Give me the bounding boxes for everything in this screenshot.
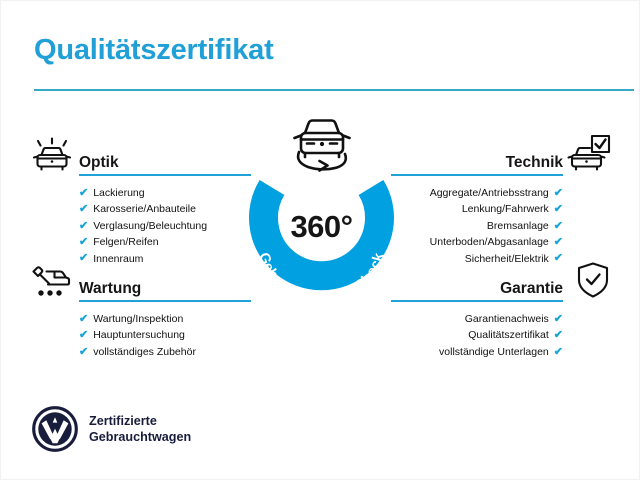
vw-certified-logo: Zertifizierte Gebrauchtwagen [32, 406, 191, 452]
list-item: ✔Verglasung/Beleuchtung [79, 218, 251, 234]
footer-logo-line2: Gebrauchtwagen [89, 429, 191, 445]
list-item-label: Lackierung [93, 185, 144, 201]
list-item-label: Innenraum [93, 251, 143, 267]
section-garantie: Garantie ✔Garantienachweis ✔Qualitätszer… [391, 272, 563, 360]
list-item-label: Unterboden/Abgasanlage [430, 234, 549, 250]
section-technik-header: Technik [391, 146, 563, 176]
section-technik-title: Technik [506, 154, 563, 172]
section-wartung: Wartung ✔Wartung/Inspektion ✔Hauptunters… [79, 272, 251, 360]
list-item: ✔vollständiges Zubehör [79, 344, 251, 360]
section-optik-title: Optik [79, 154, 119, 172]
check-icon: ✔ [79, 188, 88, 199]
section-optik-underline [79, 174, 251, 176]
check-icon: ✔ [554, 188, 563, 199]
list-item: ✔Aggregate/Antriebsstrang [391, 185, 563, 201]
section-garantie-list: ✔Garantienachweis ✔Qualitätszertifikat ✔… [391, 311, 563, 360]
section-wartung-underline [79, 300, 251, 302]
check-icon: ✔ [79, 237, 88, 248]
car-wrench-icon [27, 261, 73, 301]
section-optik-list: ✔Lackierung ✔Karosserie/Anbauteile ✔Verg… [79, 185, 251, 267]
list-item-label: Sicherheit/Elektrik [465, 251, 549, 267]
check-icon: ✔ [79, 221, 88, 232]
check-icon: ✔ [79, 330, 88, 341]
list-item-label: Verglasung/Beleuchtung [93, 218, 207, 234]
check-icon: ✔ [554, 314, 563, 325]
section-technik: Technik ✔Aggregate/Antriebsstrang ✔Lenku… [391, 146, 563, 267]
check-icon: ✔ [554, 221, 563, 232]
section-wartung-header: Wartung [79, 272, 251, 302]
section-technik-underline [391, 174, 563, 176]
list-item: ✔Qualitätszertifikat [391, 327, 563, 343]
page-title: Qualitätszertifikat [34, 34, 274, 67]
list-item: ✔Lackierung [79, 185, 251, 201]
list-item: ✔Sicherheit/Elektrik [391, 251, 563, 267]
list-item-label: vollständiges Zubehör [93, 344, 196, 360]
vw-logo-icon [32, 406, 78, 452]
check-icon: ✔ [554, 237, 563, 248]
section-garantie-underline [391, 300, 563, 302]
list-item: ✔Felgen/Reifen [79, 234, 251, 250]
check-icon: ✔ [79, 204, 88, 215]
section-technik-list: ✔Aggregate/Antriebsstrang ✔Lenkung/Fahrw… [391, 185, 563, 267]
check-icon: ✔ [554, 204, 563, 215]
list-item: ✔Garantienachweis [391, 311, 563, 327]
list-item: ✔Wartung/Inspektion [79, 311, 251, 327]
check-icon: ✔ [79, 347, 88, 358]
list-item-label: vollständige Unterlagen [439, 344, 549, 360]
list-item-label: Wartung/Inspektion [93, 311, 183, 327]
list-item-label: Bremsanlage [487, 218, 549, 234]
list-item-label: Lenkung/Fahrwerk [462, 201, 549, 217]
list-item: ✔Unterboden/Abgasanlage [391, 234, 563, 250]
list-item-label: Aggregate/Antriebsstrang [430, 185, 549, 201]
footer-logo-line1: Zertifizierte [89, 413, 191, 429]
check-icon: ✔ [79, 314, 88, 325]
section-optik: Optik ✔Lackierung ✔Karosserie/Anbauteile… [79, 146, 251, 267]
list-item: ✔vollständige Unterlagen [391, 344, 563, 360]
list-item-label: Hauptuntersuchung [93, 327, 185, 343]
list-item: ✔Karosserie/Anbauteile [79, 201, 251, 217]
car-checkbox-icon [566, 133, 612, 173]
section-optik-header: Optik [79, 146, 251, 176]
header-divider [34, 89, 634, 91]
shield-check-icon [570, 260, 616, 300]
section-wartung-title: Wartung [79, 280, 141, 298]
car-front-rotate-icon [283, 112, 361, 178]
list-item-label: Karosserie/Anbauteile [93, 201, 196, 217]
check-icon: ✔ [79, 253, 88, 264]
badge-360-check: Gebrauchtwagen-Check 360° [239, 141, 404, 306]
list-item: ✔Lenkung/Fahrwerk [391, 201, 563, 217]
section-garantie-header: Garantie [391, 272, 563, 302]
check-icon: ✔ [554, 330, 563, 341]
list-item-label: Garantienachweis [465, 311, 549, 327]
list-item: ✔Hauptuntersuchung [79, 327, 251, 343]
section-wartung-list: ✔Wartung/Inspektion ✔Hauptuntersuchung ✔… [79, 311, 251, 360]
list-item: ✔Bremsanlage [391, 218, 563, 234]
section-garantie-title: Garantie [500, 280, 563, 298]
list-item: ✔Innenraum [79, 251, 251, 267]
car-front-shine-icon [29, 134, 75, 174]
check-icon: ✔ [554, 253, 563, 264]
list-item-label: Felgen/Reifen [93, 234, 158, 250]
list-item-label: Qualitätszertifikat [468, 327, 549, 343]
footer-logo-text: Zertifizierte Gebrauchtwagen [89, 413, 191, 445]
certificate-page: Qualitätszertifikat Optik ✔Lackierung ✔K… [0, 0, 640, 480]
check-icon: ✔ [554, 347, 563, 358]
